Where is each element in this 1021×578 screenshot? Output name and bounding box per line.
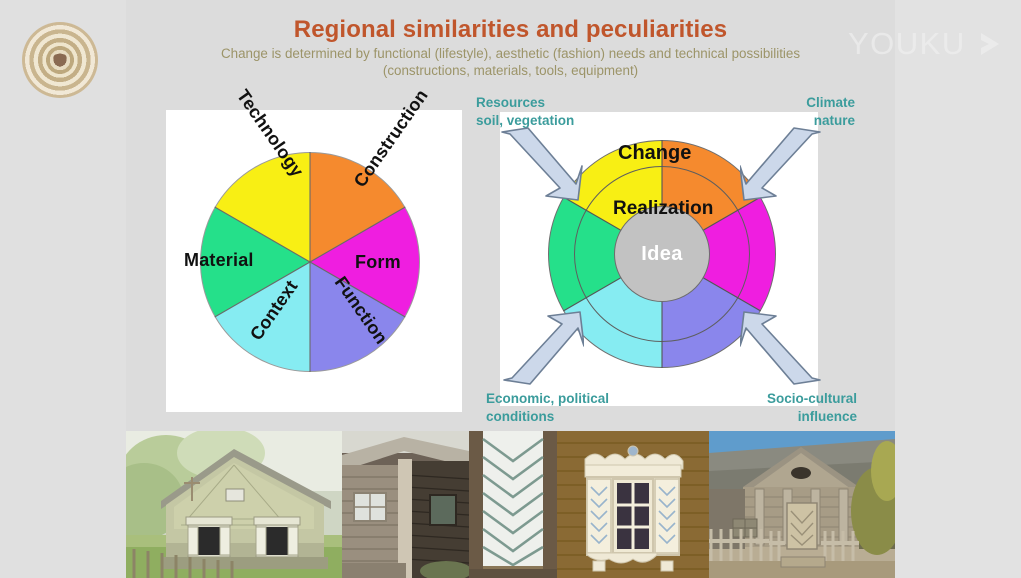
photo-strip	[126, 431, 895, 578]
wheel-label-material: Material	[184, 250, 254, 271]
heart-icon	[50, 50, 70, 70]
arrow-icon-bottom-left	[500, 310, 584, 386]
hub-idea: Idea	[614, 206, 710, 302]
page-subtitle: Change is determined by functional (life…	[146, 45, 875, 79]
carved-window-shutters-photo	[557, 431, 709, 578]
subtitle-line-1: Change is determined by functional (life…	[146, 45, 875, 62]
influence-resources-line-1: Resources	[476, 94, 574, 112]
influence-socio-line-2: influence	[745, 408, 857, 426]
porch-facade-photo	[709, 431, 895, 578]
influence-socio-line-1: Socio-cultural	[745, 390, 857, 408]
influence-label-socio-cultural: Socio-cultural influence	[745, 390, 857, 425]
log-cabin-corner-photo	[342, 431, 469, 578]
influence-climate-line-1: Climate	[775, 94, 855, 112]
diamond-pattern-door-photo	[469, 431, 557, 578]
hub-label: Idea	[641, 243, 683, 266]
influence-label-economic: Economic, political conditions	[486, 390, 609, 425]
play-arrow-icon	[975, 29, 1005, 59]
arrow-icon-top-right	[740, 126, 824, 202]
background-right-margin	[895, 0, 1021, 578]
subtitle-line-2: (constructions, materials, tools, equipm…	[146, 62, 875, 79]
wooden-village-house-photo	[126, 431, 342, 578]
ring-label-realization: Realization	[613, 198, 713, 220]
arrow-icon-bottom-right	[740, 310, 824, 386]
page-title: Regional similarities and peculiarities	[126, 16, 895, 44]
wheel-label-form: Form	[355, 252, 401, 273]
influence-label-resources: Resources soil, vegetation	[476, 94, 574, 129]
influence-economic-line-2: conditions	[486, 408, 609, 426]
arrow-icon-top-left	[500, 126, 584, 202]
influence-label-climate: Climate nature	[775, 94, 855, 129]
influence-economic-line-1: Economic, political	[486, 390, 609, 408]
tree-rings-heart-logo	[22, 22, 98, 98]
ring-label-change: Change	[618, 142, 691, 165]
slide-canvas: YOUKU Regional similarities and peculiar…	[0, 0, 1021, 578]
